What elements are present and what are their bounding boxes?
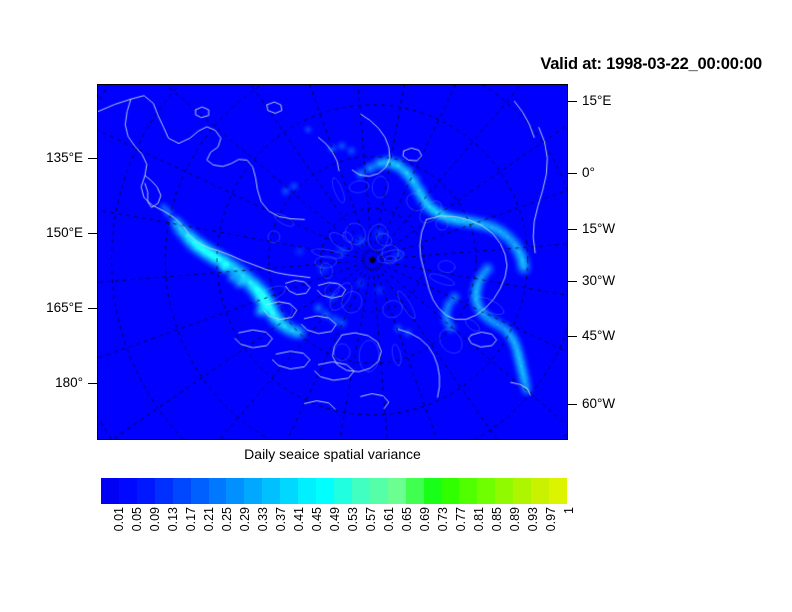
colorbar-swatch	[388, 478, 406, 504]
colorbar-tick-label: 0.09	[149, 507, 162, 531]
colorbar-swatch	[298, 478, 316, 504]
right-axis-tick	[568, 101, 577, 102]
colorbar-tick-label: 0.01	[113, 507, 126, 531]
colorbar-tick-label: 0.69	[419, 507, 432, 531]
colorbar-swatch	[406, 478, 424, 504]
left-axis-tick	[88, 308, 97, 309]
page-title: Valid at: 1998-03-22_00:00:00	[540, 55, 762, 74]
colorbar-tick-label: 0.53	[347, 507, 360, 531]
colorbar-swatch	[370, 478, 388, 504]
colorbar-swatch	[352, 478, 370, 504]
colorbar-swatch	[119, 478, 137, 504]
colorbar-tick-label: 0.37	[275, 507, 288, 531]
colorbar-tick-label: 0.61	[383, 507, 396, 531]
colorbar-swatch	[244, 478, 262, 504]
right-axis-label: 0°	[582, 166, 595, 180]
colorbar-swatch	[531, 478, 549, 504]
left-axis-tick	[88, 158, 97, 159]
colorbar-tick-label: 0.33	[257, 507, 270, 531]
colorbar-swatch	[459, 478, 477, 504]
colorbar-swatch	[155, 478, 173, 504]
right-axis-tick	[568, 173, 577, 174]
colorbar-tick-label: 0.65	[401, 507, 414, 531]
colorbar-swatch	[477, 478, 495, 504]
colorbar-tick-label: 0.29	[239, 507, 252, 531]
right-axis-label: 15°W	[582, 222, 615, 236]
colorbar-swatch	[173, 478, 191, 504]
colorbar-tick-label: 0.21	[203, 507, 216, 531]
colorbar-tick-label: 0.05	[131, 507, 144, 531]
right-axis-label: 60°W	[582, 397, 615, 411]
colorbar-swatch	[495, 478, 513, 504]
left-axis-label: 150°E	[46, 226, 83, 240]
colorbar-swatch	[262, 478, 280, 504]
map-plot-area	[97, 84, 568, 440]
colorbar-swatch	[191, 478, 209, 504]
colorbar-tick-label: 0.93	[527, 507, 540, 531]
colorbar-swatch	[226, 478, 244, 504]
colorbar-swatch	[334, 478, 352, 504]
colorbar-tick-label: 0.17	[185, 507, 198, 531]
colorbar-swatch	[424, 478, 442, 504]
right-axis-label: 15°E	[582, 94, 611, 108]
colorbar-tick-label: 0.85	[491, 507, 504, 531]
colorbar-swatch	[513, 478, 531, 504]
right-axis-tick	[568, 229, 577, 230]
colorbar-gradient	[100, 477, 568, 505]
colorbar-swatch	[442, 478, 460, 504]
colorbar-swatch	[101, 478, 119, 504]
colorbar-swatch	[209, 478, 227, 504]
colorbar-tick-label: 0.81	[473, 507, 486, 531]
left-axis-tick	[88, 233, 97, 234]
right-axis-tick	[568, 336, 577, 337]
colorbar-tick-labels: 0.010.050.090.130.170.210.250.290.330.37…	[100, 507, 568, 567]
left-axis-tick	[88, 383, 97, 384]
colorbar-tick-label: 0.13	[167, 507, 180, 531]
colorbar-tick-label: 0.57	[365, 507, 378, 531]
left-axis-label: 180°	[55, 376, 83, 390]
colorbar-tick-label: 0.73	[437, 507, 450, 531]
colorbar-tick-label: 0.77	[455, 507, 468, 531]
colorbar-swatch	[316, 478, 334, 504]
colorbar-tick-label: 0.89	[509, 507, 522, 531]
colorbar-swatch	[280, 478, 298, 504]
colorbar-tick-label: 0.41	[293, 507, 306, 531]
colorbar-tick-label: 0.45	[311, 507, 324, 531]
colorbar-tick-label: 0.25	[221, 507, 234, 531]
colorbar-tick-label: 0.49	[329, 507, 342, 531]
right-axis-tick	[568, 404, 577, 405]
right-axis-label: 45°W	[582, 329, 615, 343]
right-axis-tick	[568, 281, 577, 282]
left-axis-label: 135°E	[46, 151, 83, 165]
colorbar-caption: Daily seaice spatial variance	[97, 446, 568, 462]
colorbar-swatch	[549, 478, 567, 504]
right-axis-label: 30°W	[582, 274, 615, 288]
left-axis-label: 165°E	[46, 301, 83, 315]
colorbar-tick-label: 1	[563, 507, 576, 514]
seaice-variance-heatmap	[98, 85, 567, 439]
colorbar	[100, 477, 568, 505]
colorbar-swatch	[137, 478, 155, 504]
colorbar-tick-label: 0.97	[545, 507, 558, 531]
